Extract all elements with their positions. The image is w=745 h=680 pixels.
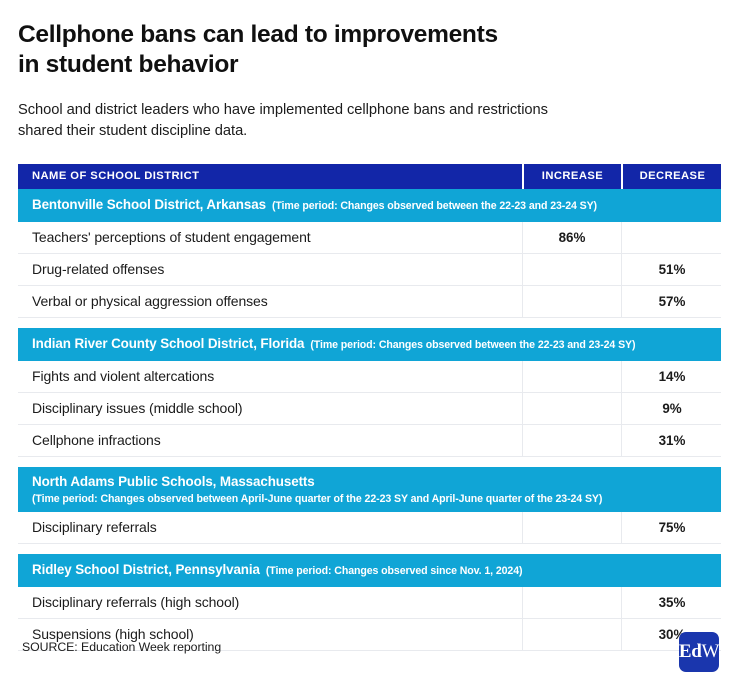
page-subtitle: School and district leaders who have imp…: [18, 100, 727, 142]
metric-label: Disciplinary referrals (high school): [18, 587, 522, 618]
decrease-value: 57%: [621, 286, 722, 317]
district-name: Bentonville School District, Arkansas: [32, 197, 266, 212]
table-body: Bentonville School District, Arkansas(Ti…: [18, 189, 721, 651]
district-time-period: (Time period: Changes observed since Nov…: [266, 565, 523, 577]
edweek-logo: EdW: [679, 632, 719, 672]
column-header-increase: INCREASE: [522, 164, 621, 189]
metric-label: Verbal or physical aggression offenses: [18, 286, 522, 317]
metric-label: Teachers' perceptions of student engagem…: [18, 222, 522, 253]
table-row: Disciplinary referrals75%: [18, 512, 721, 544]
decrease-value: 75%: [621, 512, 722, 543]
page-title: Cellphone bans can lead to improvements …: [18, 0, 727, 81]
metric-label: Fights and violent altercations: [18, 361, 522, 392]
table-row: Disciplinary issues (middle school)9%: [18, 393, 721, 425]
infographic-root: Cellphone bans can lead to improvements …: [0, 0, 745, 680]
table-row: Fights and violent altercations14%: [18, 361, 721, 393]
footer: SOURCE: Education Week reporting EdW: [18, 632, 727, 676]
district-time-period: (Time period: Changes observed between t…: [272, 200, 597, 212]
district-time-period: (Time period: Changes observed between A…: [32, 493, 707, 505]
district-band: Ridley School District, Pennsylvania(Tim…: [18, 554, 721, 587]
district-name: Indian River County School District, Flo…: [32, 336, 304, 351]
logo-text-primary: Ed: [679, 641, 702, 663]
table-row: Cellphone infractions31%: [18, 425, 721, 457]
metric-label: Disciplinary issues (middle school): [18, 393, 522, 424]
metric-label: Drug-related offenses: [18, 254, 522, 285]
decrease-value: [621, 222, 722, 253]
column-header-decrease: DECREASE: [621, 164, 722, 189]
logo-text-secondary: W: [702, 641, 720, 663]
decrease-value: 51%: [621, 254, 722, 285]
increase-value: [522, 254, 621, 285]
decrease-value: 31%: [621, 425, 722, 456]
metric-label: Cellphone infractions: [18, 425, 522, 456]
metric-label: Disciplinary referrals: [18, 512, 522, 543]
decrease-value: 9%: [621, 393, 722, 424]
increase-value: [522, 361, 621, 392]
increase-value: [522, 512, 621, 543]
increase-value: [522, 425, 621, 456]
increase-value: [522, 587, 621, 618]
district-name: Ridley School District, Pennsylvania: [32, 562, 260, 577]
discipline-data-table: NAME OF SCHOOL DISTRICT INCREASE DECREAS…: [18, 164, 721, 651]
table-header-row: NAME OF SCHOOL DISTRICT INCREASE DECREAS…: [18, 164, 721, 189]
table-row: Disciplinary referrals (high school)35%: [18, 587, 721, 619]
district-time-period: (Time period: Changes observed between t…: [310, 339, 635, 351]
district-band: North Adams Public Schools, Massachusett…: [18, 467, 721, 512]
table-row: Teachers' perceptions of student engagem…: [18, 222, 721, 254]
district-group: North Adams Public Schools, Massachusett…: [18, 467, 721, 544]
decrease-value: 35%: [621, 587, 722, 618]
increase-value: [522, 393, 621, 424]
table-row: Verbal or physical aggression offenses57…: [18, 286, 721, 318]
increase-value: 86%: [522, 222, 621, 253]
district-band: Bentonville School District, Arkansas(Ti…: [18, 189, 721, 222]
column-header-district: NAME OF SCHOOL DISTRICT: [18, 170, 522, 182]
district-group: Indian River County School District, Flo…: [18, 328, 721, 457]
district-group: Bentonville School District, Arkansas(Ti…: [18, 189, 721, 318]
source-note: SOURCE: Education Week reporting: [22, 640, 221, 654]
district-name: North Adams Public Schools, Massachusett…: [32, 474, 315, 489]
district-band: Indian River County School District, Flo…: [18, 328, 721, 361]
table-row: Drug-related offenses51%: [18, 254, 721, 286]
decrease-value: 14%: [621, 361, 722, 392]
increase-value: [522, 286, 621, 317]
